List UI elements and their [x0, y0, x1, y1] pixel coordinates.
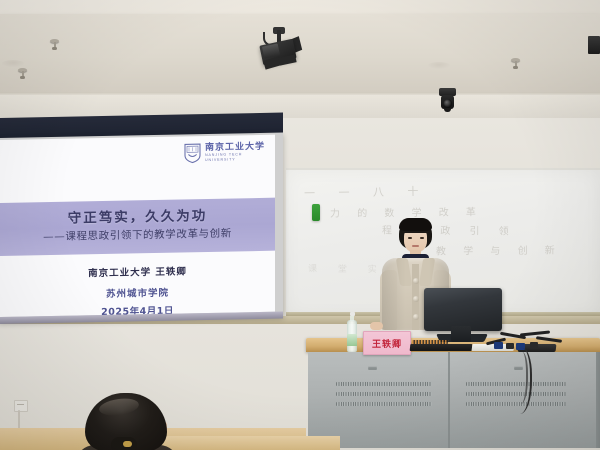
dome-camera-icon: [439, 88, 456, 114]
slide-institute: 苏州城市学院: [0, 283, 275, 302]
podium-side-panel: [596, 352, 600, 448]
student-hair-tie: [123, 441, 132, 447]
ceiling-vent-icon: [2, 60, 24, 67]
studio-light-icon: [255, 30, 307, 76]
seated-student: [85, 393, 167, 450]
monitor-stand-neck: [451, 326, 471, 342]
power-outlet-icon[interactable]: [14, 400, 28, 412]
podium-vent: [336, 392, 432, 396]
ceiling-vent-icon: [428, 62, 450, 69]
green-magnet-icon[interactable]: [312, 204, 320, 221]
hanging-cable: [514, 352, 528, 404]
water-bottle-icon[interactable]: [347, 312, 357, 352]
podium-cabinet: [308, 352, 596, 448]
keyboard[interactable]: [410, 344, 473, 351]
ceiling-box-icon: [588, 36, 600, 54]
name-placard: 王轶卿: [363, 331, 411, 355]
cable-plug-icon: [530, 342, 538, 348]
sprinkler-head-icon: [18, 68, 27, 78]
podium-door-split: [448, 352, 450, 448]
podium-latch[interactable]: [368, 366, 377, 370]
sprinkler-head-icon: [511, 58, 520, 68]
projection-screen[interactable]: 南京工业大学 NANJING TECH UNIVERSITY 守正笃实，久久为功…: [0, 118, 283, 324]
whiteboard-ghost-line: 一 一 八 十: [304, 183, 429, 201]
presenter-eye: [420, 237, 424, 239]
logo-name-cn: 南京工业大学: [205, 142, 265, 152]
name-placard-label: 王轶卿: [372, 337, 402, 350]
slide-affiliation-speaker: 南京工业大学 王轶卿: [0, 262, 275, 281]
presenter-eye: [408, 237, 412, 239]
podium-vent: [336, 382, 432, 386]
screen-frame: 南京工业大学 NANJING TECH UNIVERSITY 守正笃实，久久为功…: [0, 133, 283, 322]
sprinkler-head-icon: [50, 39, 59, 49]
university-logo: 南京工业大学 NANJING TECH UNIVERSITY: [184, 142, 265, 164]
logo-name-en-line2: UNIVERSITY: [205, 158, 265, 163]
presenter-mouth: [412, 245, 419, 247]
presenter-hair-front: [399, 218, 432, 231]
university-shield-icon: [184, 143, 201, 163]
podium[interactable]: [306, 338, 600, 450]
presentation-slide: 南京工业大学 NANJING TECH UNIVERSITY 守正笃实，久久为功…: [0, 135, 275, 317]
foreground-desk-second: [160, 436, 340, 450]
cable-bundle: [486, 330, 564, 350]
podium-vent: [336, 402, 432, 406]
presenter-hand: [370, 322, 383, 330]
cable-plug-icon: [494, 342, 503, 349]
classroom-scene: 一 一 八 十 力 的 数 学 改 革 程 思 政 引 领 教 学 与 创 新 …: [0, 0, 600, 450]
monitor-screen[interactable]: [424, 288, 502, 331]
